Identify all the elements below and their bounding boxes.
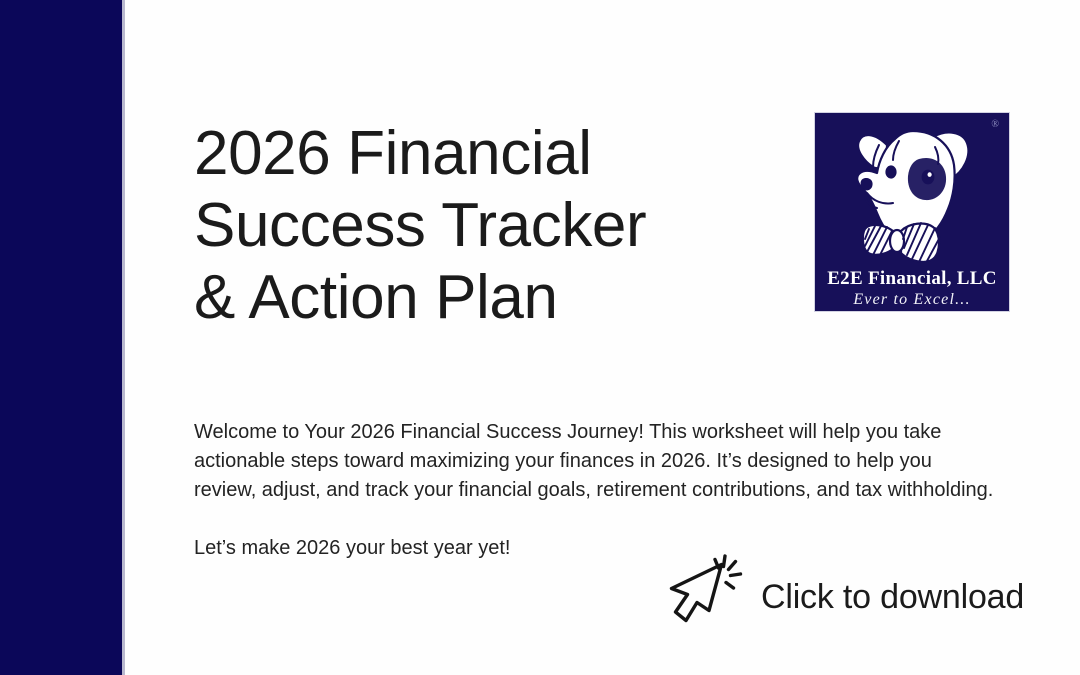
dog-head-bowtie-icon <box>815 115 1010 267</box>
registered-trademark-icon: ® <box>991 120 999 130</box>
intro-paragraph-primary: Welcome to Your 2026 Financial Success J… <box>194 418 994 505</box>
slide-canvas: 2026 Financial Success Tracker & Action … <box>0 0 1080 675</box>
click-to-download-cta[interactable]: Click to download <box>663 552 1024 636</box>
company-logo: ® E2E Financial, LLC Ever to Excel... <box>814 112 1010 312</box>
cursor-click-icon <box>663 552 743 636</box>
page-title-line-2: Success Tracker <box>194 190 794 262</box>
click-to-download-label: Click to download <box>761 577 1024 617</box>
left-accent-bar <box>0 0 122 675</box>
intro-text-block: Welcome to Your 2026 Financial Success J… <box>194 418 994 563</box>
page-title-line-3: & Action Plan <box>194 262 794 334</box>
logo-tagline: Ever to Excel... <box>815 290 1009 309</box>
dog-right-eye <box>922 170 935 185</box>
page-title-line-1: 2026 Financial <box>194 118 794 190</box>
dog-left-eye <box>885 165 896 178</box>
logo-company-name: E2E Financial, LLC <box>815 268 1009 290</box>
left-accent-bar-edge <box>122 0 125 675</box>
page-title: 2026 Financial Success Tracker & Action … <box>194 118 794 334</box>
